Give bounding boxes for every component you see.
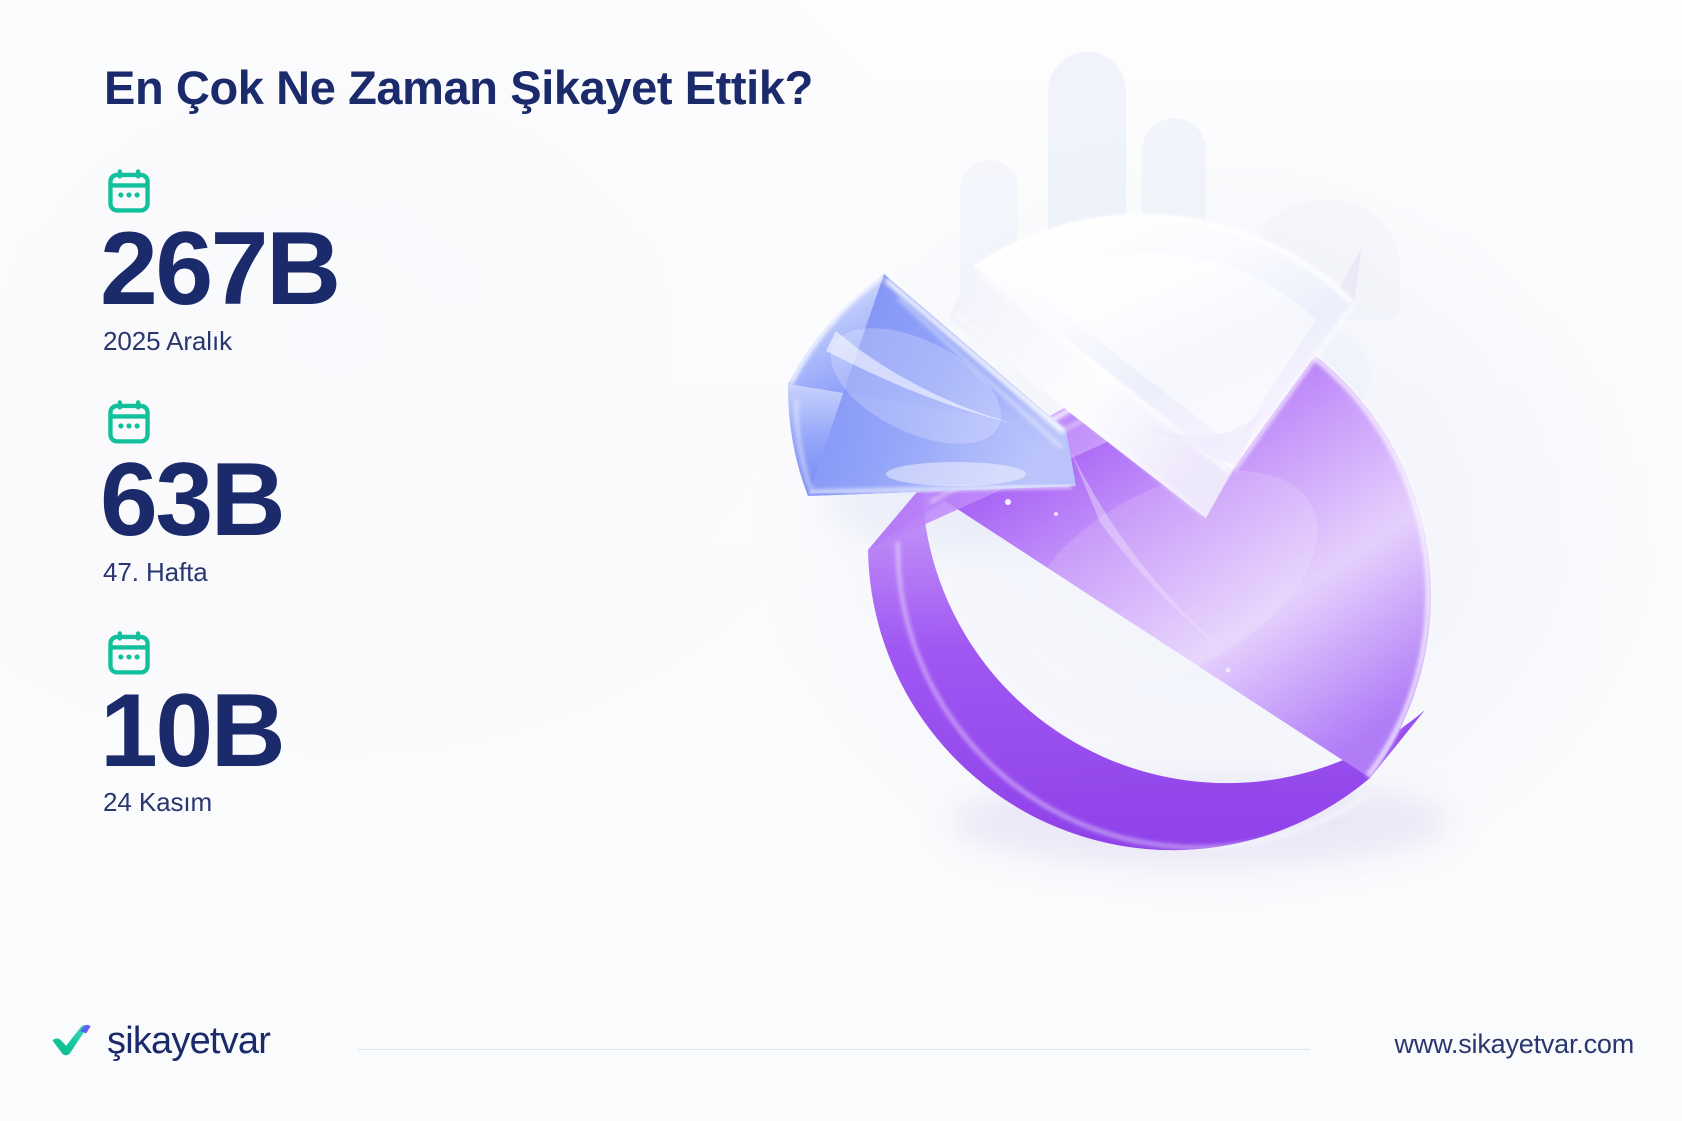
stat-item: 63B 47. Hafta bbox=[100, 397, 530, 588]
footer: şikayetvar www.sikayetvar.com bbox=[0, 1021, 1682, 1077]
check-mark-icon bbox=[50, 1021, 96, 1061]
infographic-canvas: En Çok Ne Zaman Şikayet Ettik? 267B 2025… bbox=[0, 0, 1682, 1121]
page-title: En Çok Ne Zaman Şikayet Ettik? bbox=[104, 60, 813, 115]
brand-logo[interactable]: şikayetvar bbox=[50, 1021, 270, 1061]
footer-url[interactable]: www.sikayetvar.com bbox=[1395, 1029, 1634, 1060]
stat-item: 267B 2025 Aralık bbox=[100, 166, 530, 357]
brand-name: şikayetvar bbox=[107, 1022, 270, 1060]
stats-list: 267B 2025 Aralık 63B 47. Hafta bbox=[100, 166, 530, 818]
stat-value: 63B bbox=[100, 451, 530, 551]
stat-value: 10B bbox=[100, 682, 530, 782]
stat-item: 10B 24 Kasım bbox=[100, 628, 530, 819]
stat-value: 267B bbox=[100, 220, 530, 320]
stat-label: 47. Hafta bbox=[100, 557, 530, 588]
stat-label: 24 Kasım bbox=[100, 787, 530, 818]
calendar-icon bbox=[104, 397, 154, 447]
pie-chart-illustration bbox=[770, 150, 1550, 910]
calendar-icon bbox=[104, 628, 154, 678]
calendar-icon bbox=[104, 166, 154, 216]
pie-chart-svg bbox=[770, 150, 1550, 910]
footer-divider bbox=[358, 1049, 1310, 1050]
stat-label: 2025 Aralık bbox=[100, 326, 530, 357]
